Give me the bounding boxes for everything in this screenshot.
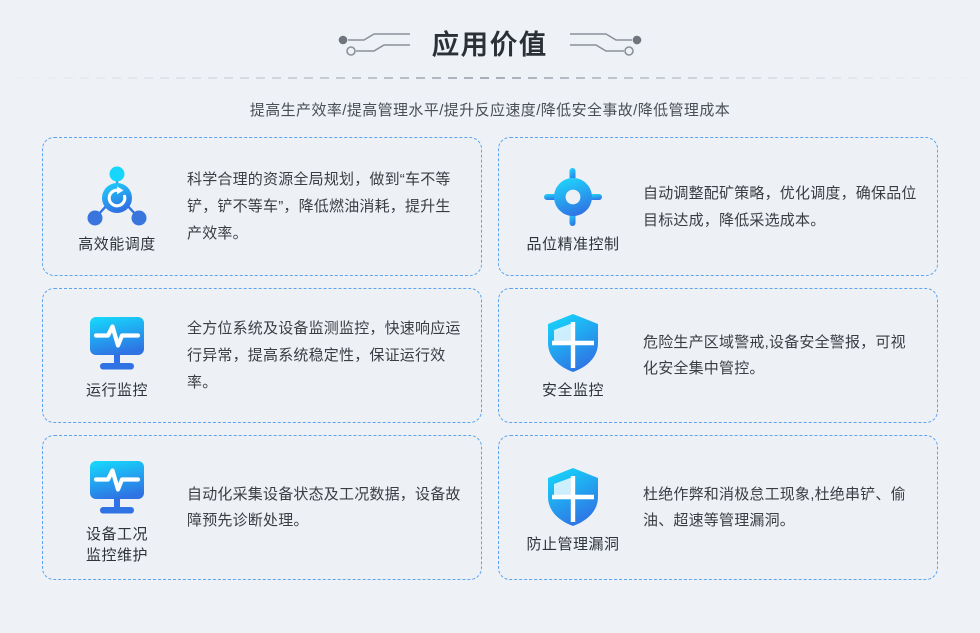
value-card[interactable]: 品位精准控制 自动调整配矿策略，优化调度，确保品位目标达成，降低采选成本。 <box>498 137 938 276</box>
card-description: 杜绝作弊和消极怠工现象,杜绝串铲、偷油、超速等管理漏洞。 <box>629 482 923 534</box>
circuit-trace-left-icon <box>334 30 414 60</box>
card-description: 科学合理的资源全局规划，做到“车不等铲，铲不等车”，降低燃油消耗，提升生产效率。 <box>173 166 467 247</box>
value-card[interactable]: 高效能调度 科学合理的资源全局规划，做到“车不等铲，铲不等车”，降低燃油消耗，提… <box>42 137 482 276</box>
header-divider <box>0 77 980 79</box>
card-icon-column: 品位精准控制 <box>517 164 629 255</box>
card-icon-column: 安全监控 <box>517 310 629 401</box>
shield-icon <box>540 310 606 376</box>
card-icon-column: 运行监控 <box>61 310 173 401</box>
card-description: 自动化采集设备状态及工况数据，设备故障预先诊断处理。 <box>173 482 467 534</box>
card-label: 高效能调度 <box>78 234 156 255</box>
card-icon-column: 高效能调度 <box>61 164 173 255</box>
monitor-pulse-icon <box>84 310 150 376</box>
card-description: 全方位系统及设备监测监控，快速响应运行异常，提高系统稳定性，保证运行效率。 <box>173 315 467 396</box>
card-label: 安全监控 <box>542 380 604 401</box>
card-label: 防止管理漏洞 <box>526 534 619 555</box>
monitor-pulse-icon <box>84 454 150 520</box>
value-card[interactable]: 运行监控 全方位系统及设备监测监控，快速响应运行异常，提高系统稳定性，保证运行效… <box>42 288 482 423</box>
card-label: 设备工况 监控维护 <box>86 524 148 566</box>
dispatch-network-refresh-icon <box>84 164 150 230</box>
page-header: 应用价值 <box>0 0 980 96</box>
shield-icon <box>540 464 606 530</box>
title-row: 应用价值 <box>0 28 980 62</box>
card-description: 危险生产区域警戒,设备安全警报，可视化安全集中管控。 <box>629 330 923 382</box>
card-label: 品位精准控制 <box>526 234 619 255</box>
value-card[interactable]: 设备工况 监控维护 自动化采集设备状态及工况数据，设备故障预先诊断处理。 <box>42 435 482 580</box>
page-subtitle: 提高生产效率/提高管理水平/提升反应速度/降低安全事故/降低管理成本 <box>0 100 980 122</box>
card-description: 自动调整配矿策略，优化调度，确保品位目标达成，降低采选成本。 <box>629 180 923 234</box>
value-card[interactable]: 安全监控 危险生产区域警戒,设备安全警报，可视化安全集中管控。 <box>498 288 938 423</box>
value-card[interactable]: 防止管理漏洞 杜绝作弊和消极怠工现象,杜绝串铲、偷油、超速等管理漏洞。 <box>498 435 938 580</box>
page-title: 应用价值 <box>432 28 548 62</box>
card-icon-column: 防止管理漏洞 <box>517 464 629 555</box>
crosshair-target-icon <box>540 164 606 230</box>
card-label: 运行监控 <box>86 380 148 401</box>
value-card-grid: 高效能调度 科学合理的资源全局规划，做到“车不等铲，铲不等车”，降低燃油消耗，提… <box>42 137 938 580</box>
circuit-trace-right-icon <box>566 30 646 60</box>
card-icon-column: 设备工况 监控维护 <box>61 454 173 566</box>
